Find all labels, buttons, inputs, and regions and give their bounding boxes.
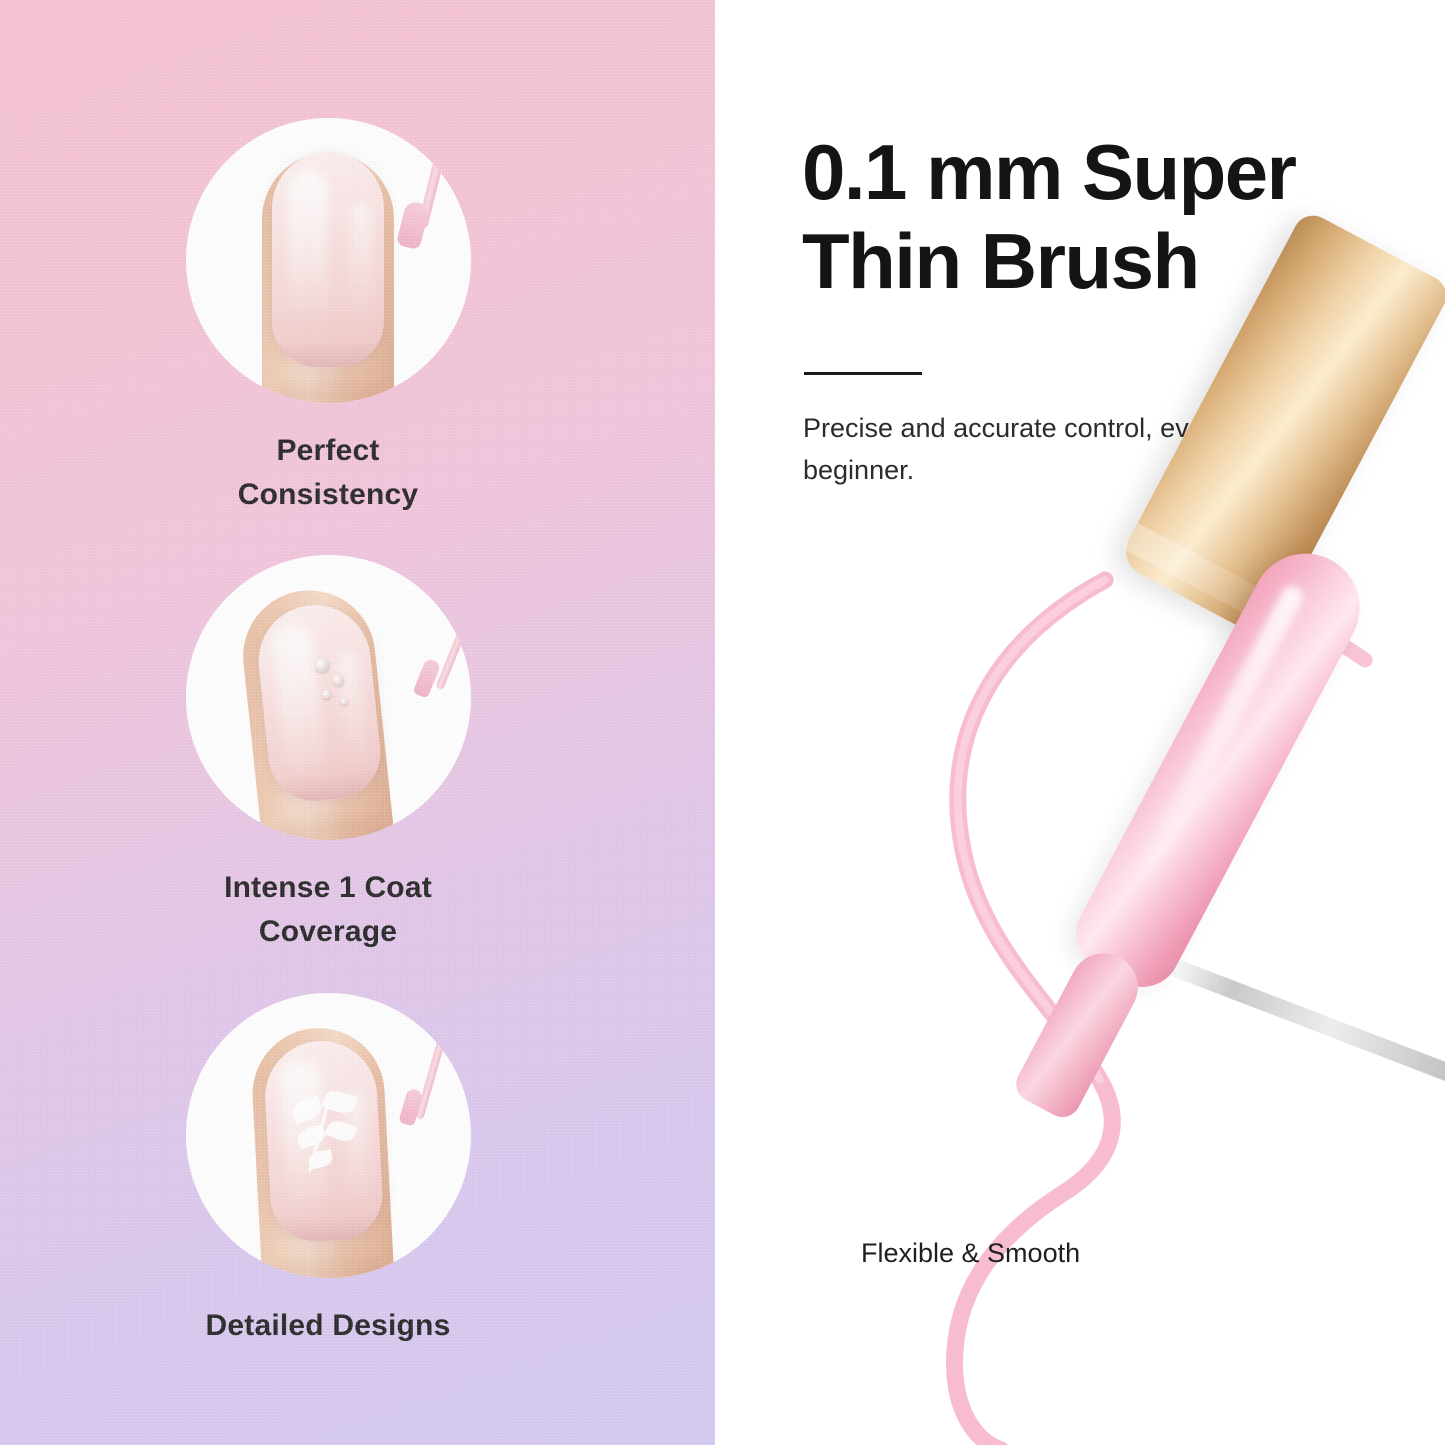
feature-perfect-consistency: Perfect Consistency (128, 118, 528, 516)
feature-detailed-designs: Detailed Designs (128, 993, 528, 1348)
nail-gloss-secondary (350, 202, 372, 322)
feature-image-perfect-consistency (186, 118, 471, 403)
feature-caption-perfect-consistency: Perfect Consistency (128, 429, 528, 516)
brush-tip (395, 200, 429, 250)
nail-shape (262, 1038, 384, 1244)
brush-stick (415, 993, 464, 1120)
brush-stick (435, 555, 471, 690)
brush-tip (412, 657, 441, 698)
feature-intense-1-coat-coverage: Intense 1 Coat Coverage (128, 555, 528, 953)
handle-highlight (1133, 582, 1307, 884)
feature-caption-intense-coverage: Intense 1 Coat Coverage (128, 866, 528, 953)
handle-taper (1010, 941, 1150, 1123)
nail-gloss (271, 623, 326, 776)
nail-gloss (288, 170, 328, 320)
feature-image-intense-coverage (186, 555, 471, 840)
panel-divider (714, 0, 716, 1445)
bottom-caption: Flexible & Smooth (861, 1238, 1080, 1269)
knuckle-shadow (266, 807, 392, 840)
nail-edge (272, 341, 384, 367)
left-feature-panel: Perfect Consistency (0, 0, 715, 1445)
thin-brush-bristle (1163, 956, 1445, 1087)
feature-caption-detailed-designs: Detailed Designs (128, 1304, 528, 1348)
title-divider (804, 372, 922, 375)
feature-image-detailed-designs (186, 993, 471, 1278)
product-feature-graphic: Perfect Consistency (0, 0, 1445, 1445)
nail-shape (272, 152, 384, 367)
knuckle-shadow (268, 377, 388, 403)
knuckle-shadow (267, 1249, 390, 1278)
right-product-panel: 0.1 mm Super Thin Brush Precise and accu… (715, 0, 1445, 1445)
nail-gloss-secondary (336, 651, 370, 773)
